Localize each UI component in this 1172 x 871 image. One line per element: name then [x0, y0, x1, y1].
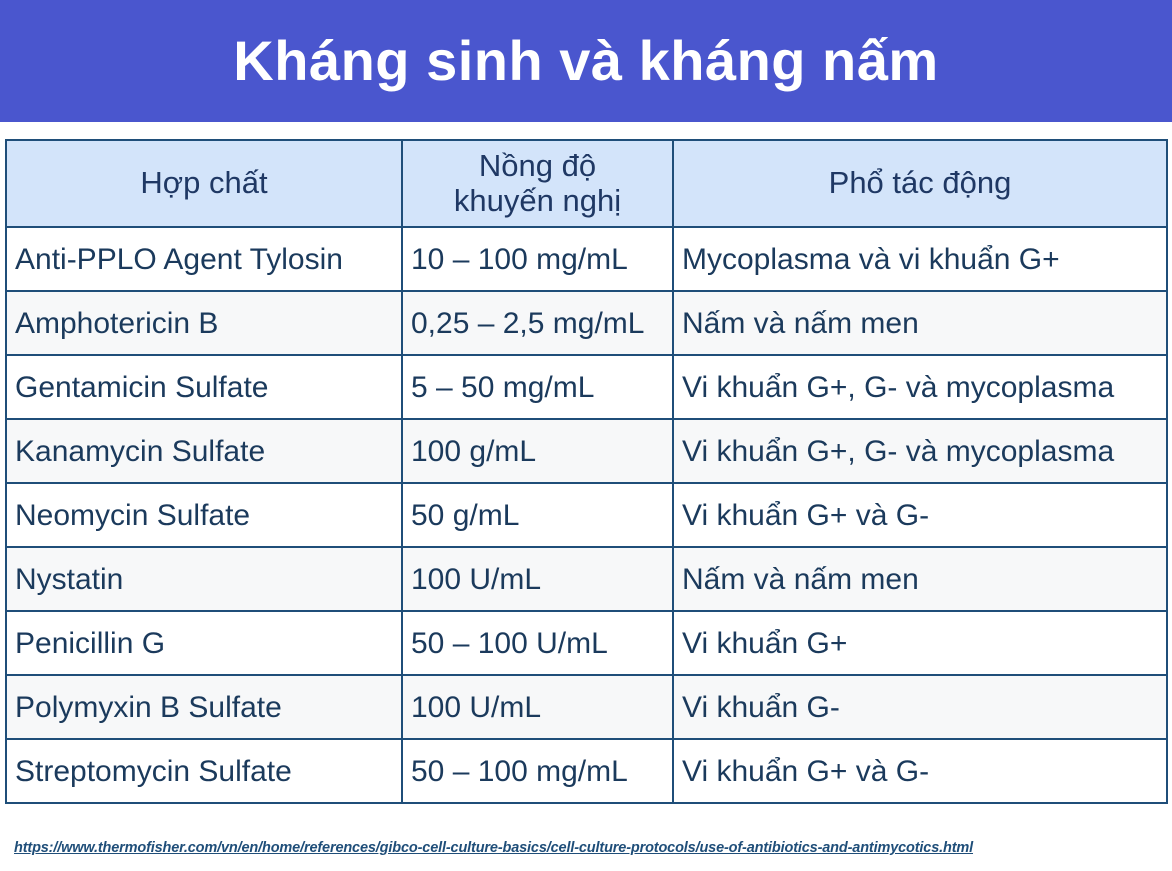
cell-spectrum: Nấm và nấm men [673, 547, 1167, 611]
table-body: Anti-PPLO Agent Tylosin 10 – 100 mg/mL M… [6, 227, 1167, 803]
cell-spectrum: Vi khuẩn G+, G- và mycoplasma [673, 355, 1167, 419]
table-row: Streptomycin Sulfate 50 – 100 mg/mL Vi k… [6, 739, 1167, 803]
cell-concentration: 50 – 100 mg/mL [402, 739, 673, 803]
slide-root: Kháng sinh và kháng nấm Hợp chất Nồng độ… [0, 0, 1172, 871]
cell-compound: Penicillin G [6, 611, 402, 675]
cell-compound: Kanamycin Sulfate [6, 419, 402, 483]
cell-compound: Anti-PPLO Agent Tylosin [6, 227, 402, 291]
cell-concentration: 0,25 – 2,5 mg/mL [402, 291, 673, 355]
cell-concentration: 5 – 50 mg/mL [402, 355, 673, 419]
cell-compound: Gentamicin Sulfate [6, 355, 402, 419]
table-row: Neomycin Sulfate 50 g/mL Vi khuẩn G+ và … [6, 483, 1167, 547]
table-row: Amphotericin B 0,25 – 2,5 mg/mL Nấm và n… [6, 291, 1167, 355]
cell-compound: Polymyxin B Sulfate [6, 675, 402, 739]
cell-concentration: 100 U/mL [402, 675, 673, 739]
cell-compound: Streptomycin Sulfate [6, 739, 402, 803]
cell-concentration: 10 – 100 mg/mL [402, 227, 673, 291]
column-header-concentration: Nồng độ khuyến nghị [402, 140, 673, 227]
table-row: Polymyxin B Sulfate 100 U/mL Vi khuẩn G- [6, 675, 1167, 739]
cell-spectrum: Vi khuẩn G+ và G- [673, 483, 1167, 547]
column-header-concentration-label-line2: khuyến nghị [411, 184, 664, 219]
column-header-spectrum-label: Phổ tác động [682, 166, 1158, 201]
table-row: Gentamicin Sulfate 5 – 50 mg/mL Vi khuẩn… [6, 355, 1167, 419]
cell-spectrum: Vi khuẩn G+ và G- [673, 739, 1167, 803]
cell-concentration: 100 g/mL [402, 419, 673, 483]
cell-spectrum: Vi khuẩn G+ [673, 611, 1167, 675]
table-row: Nystatin 100 U/mL Nấm và nấm men [6, 547, 1167, 611]
table-row: Anti-PPLO Agent Tylosin 10 – 100 mg/mL M… [6, 227, 1167, 291]
table-header-row: Hợp chất Nồng độ khuyến nghị Phổ tác độn… [6, 140, 1167, 227]
cell-compound: Amphotericin B [6, 291, 402, 355]
table-header: Hợp chất Nồng độ khuyến nghị Phổ tác độn… [6, 140, 1167, 227]
cell-spectrum: Vi khuẩn G+, G- và mycoplasma [673, 419, 1167, 483]
cell-concentration: 50 g/mL [402, 483, 673, 547]
column-header-spectrum: Phổ tác động [673, 140, 1167, 227]
cell-concentration: 50 – 100 U/mL [402, 611, 673, 675]
antibiotics-table: Hợp chất Nồng độ khuyến nghị Phổ tác độn… [5, 139, 1168, 804]
page-title: Kháng sinh và kháng nấm [233, 32, 938, 91]
cell-spectrum: Vi khuẩn G- [673, 675, 1167, 739]
cell-compound: Nystatin [6, 547, 402, 611]
antibiotics-table-container: Hợp chất Nồng độ khuyến nghị Phổ tác độn… [5, 139, 1166, 804]
table-row: Kanamycin Sulfate 100 g/mL Vi khuẩn G+, … [6, 419, 1167, 483]
title-banner: Kháng sinh và kháng nấm [0, 0, 1172, 122]
cell-concentration: 100 U/mL [402, 547, 673, 611]
column-header-compound: Hợp chất [6, 140, 402, 227]
cell-spectrum: Mycoplasma và vi khuẩn G+ [673, 227, 1167, 291]
column-header-compound-label: Hợp chất [15, 166, 393, 201]
table-row: Penicillin G 50 – 100 U/mL Vi khuẩn G+ [6, 611, 1167, 675]
source-url-link[interactable]: https://www.thermofisher.com/vn/en/home/… [14, 840, 1164, 856]
column-header-concentration-label-line1: Nồng độ [411, 149, 664, 184]
cell-compound: Neomycin Sulfate [6, 483, 402, 547]
cell-spectrum: Nấm và nấm men [673, 291, 1167, 355]
